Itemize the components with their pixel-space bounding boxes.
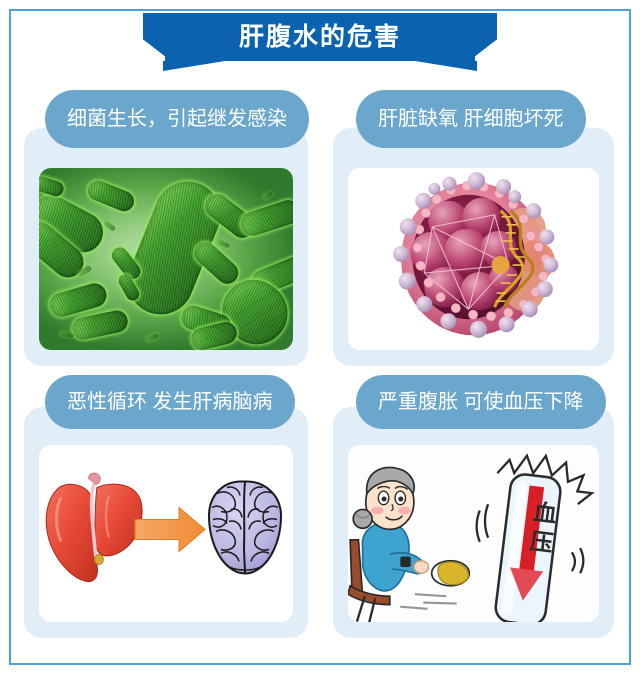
blush-left: [371, 507, 384, 515]
banner-notch-left: [163, 61, 225, 71]
hand: [414, 561, 429, 574]
pill-on-floor: [432, 561, 470, 586]
wristwatch: [400, 557, 410, 567]
card-image-encephalopathy: [39, 445, 293, 622]
banner-notch-right: [415, 61, 477, 71]
card-label-bloodpressure: 严重腹胀 可使血压下降: [356, 375, 606, 429]
liver-icon: [46, 473, 142, 582]
arrow-right-icon: [135, 508, 205, 552]
hazard-cards-grid: 细菌生长，引起继发感染: [24, 128, 614, 638]
gauge-label-char-2: 压: [529, 528, 555, 557]
hair-bun: [353, 509, 372, 528]
card-label-encephalopathy: 恶性循环 发生肝病脑病: [45, 375, 295, 429]
card-bloodpressure: 严重腹胀 可使血压下降: [333, 407, 614, 638]
brain-icon: [209, 482, 281, 574]
bacteria-photo: [39, 168, 293, 350]
page-title: 肝腹水的危害: [145, 13, 495, 61]
blood-pressure-svg: 血 压: [348, 445, 599, 622]
gauge-label-char-1: 血: [532, 499, 558, 528]
card-bacteria: 细菌生长，引起继发感染: [24, 128, 308, 366]
card-image-bloodpressure: 血 压: [348, 445, 599, 622]
blood-pressure-cartoon: 血 压: [348, 445, 599, 622]
dna-nucleoid: [492, 256, 510, 274]
title-banner: 肝腹水的危害: [145, 13, 495, 71]
hepatocyte-svg: [348, 168, 599, 350]
card-image-hepatocyte: [348, 168, 599, 350]
card-label-bacteria: 细菌生长，引起继发感染: [45, 90, 309, 148]
hepatocyte-illustration: [348, 168, 599, 350]
card-hepatocyte: 肝脏缺氧 肝细胞坏死: [333, 128, 614, 366]
liver-to-brain-diagram: [39, 445, 293, 622]
card-image-bacteria: [39, 168, 293, 350]
gallbladder: [95, 555, 104, 565]
blush-right: [398, 507, 411, 515]
card-label-hepatocyte: 肝脏缺氧 肝细胞坏死: [356, 90, 586, 148]
liver-brain-svg: [39, 445, 293, 622]
card-encephalopathy: 恶性循环 发生肝病脑病: [24, 407, 308, 638]
